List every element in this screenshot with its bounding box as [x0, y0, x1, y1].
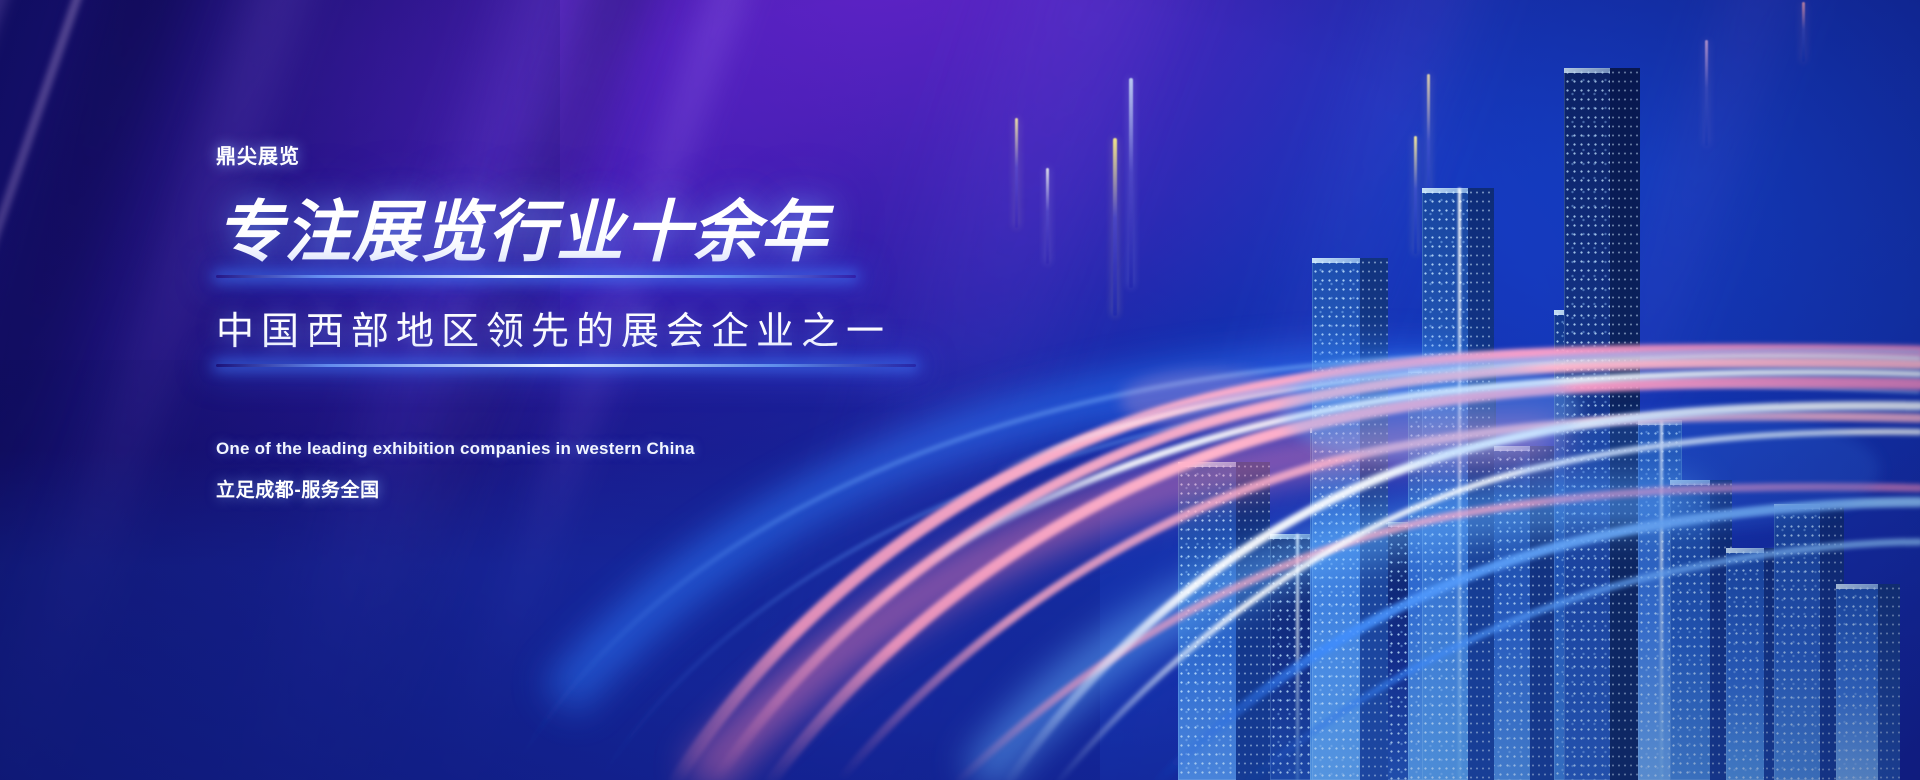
hero-copy: 鼎尖展览 专注展览行业十余年 中国西部地区领先的展会企业之一 One of th… — [216, 140, 1036, 502]
title-glow-divider — [216, 275, 856, 278]
tagline: 立足成都-服务全国 — [216, 475, 1036, 502]
subtitle: 中国西部地区领先的展会企业之一 — [216, 300, 1036, 355]
banner-stage: 鼎尖展览 专注展览行业十余年 中国西部地区领先的展会企业之一 One of th… — [0, 0, 1920, 780]
subtitle-glow-divider — [216, 364, 916, 367]
page-title: 专注展览行业十余年 — [216, 199, 1036, 266]
english-subtitle: One of the leading exhibition companies … — [216, 439, 1036, 459]
brand-name: 鼎尖展览 — [216, 140, 1036, 169]
